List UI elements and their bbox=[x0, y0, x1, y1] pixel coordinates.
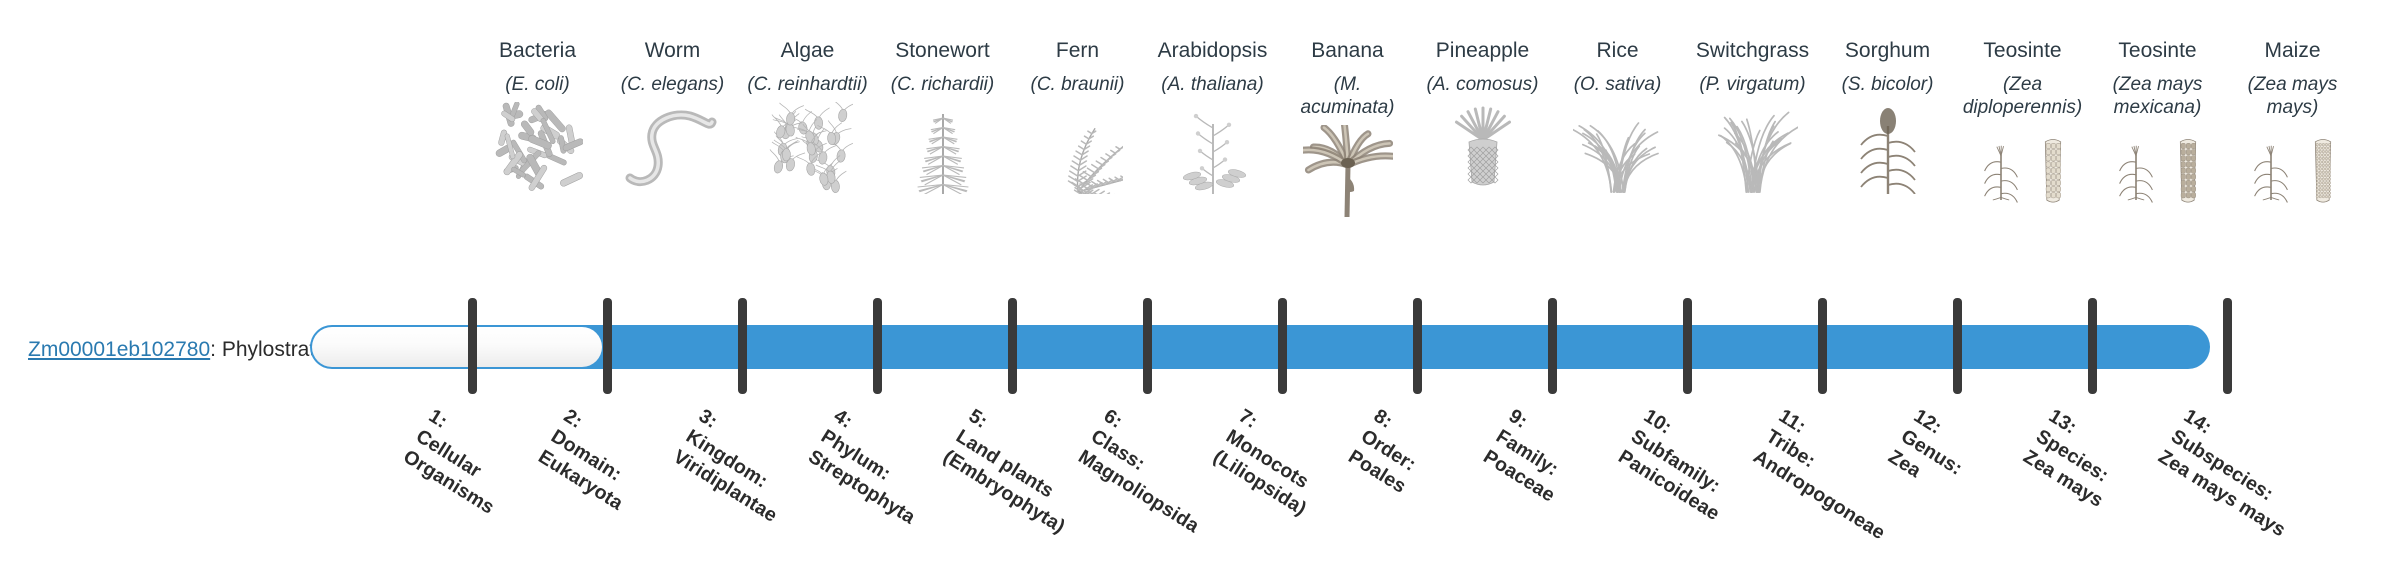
phylostratum-tick-7[interactable] bbox=[1278, 298, 1287, 394]
phylostratum-unfilled-segment bbox=[312, 327, 602, 367]
phylostratum-tick-4[interactable] bbox=[873, 298, 882, 394]
phylostratum-diagram: Zm00001eb102780: Phylostratum 3 Bacteria… bbox=[0, 0, 2400, 580]
phylostratum-progress-bar[interactable] bbox=[310, 325, 2210, 369]
phylostratum-tick-1[interactable] bbox=[468, 298, 477, 394]
phylostratum-tick-14[interactable] bbox=[2223, 298, 2232, 394]
gene-id-link[interactable]: Zm00001eb102780 bbox=[28, 338, 210, 361]
phylostratum-tick-12[interactable] bbox=[1953, 298, 1962, 394]
phylostratum-tick-10[interactable] bbox=[1683, 298, 1692, 394]
phylostratum-tick-5[interactable] bbox=[1008, 298, 1017, 394]
phylostratum-tick-6[interactable] bbox=[1143, 298, 1152, 394]
phylostratum-tick-9[interactable] bbox=[1548, 298, 1557, 394]
phylostratum-tick-8[interactable] bbox=[1413, 298, 1422, 394]
phylostratum-tick-3[interactable] bbox=[738, 298, 747, 394]
gene-label-separator: : bbox=[210, 338, 222, 361]
phylostratum-tick-11[interactable] bbox=[1818, 298, 1827, 394]
phylostratum-tick-2[interactable] bbox=[603, 298, 612, 394]
phylostratum-tick-13[interactable] bbox=[2088, 298, 2097, 394]
phylostratum-bar-area: 1:CellularOrganisms2:Domain:Eukaryota3:K… bbox=[470, 0, 2360, 580]
